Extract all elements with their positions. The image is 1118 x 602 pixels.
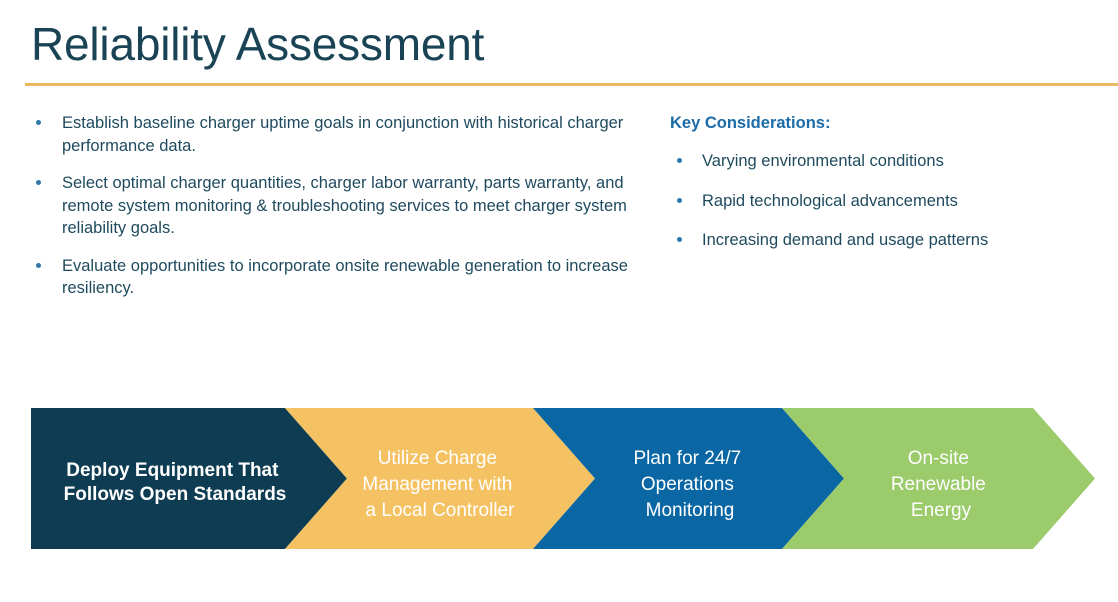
bullet-dot-icon xyxy=(36,120,41,125)
slide-canvas: Reliability Assessment Establish baselin… xyxy=(0,0,1118,602)
list-item: Varying environmental conditions xyxy=(670,150,1090,173)
chevron-label-line: a Local Controller xyxy=(366,500,516,521)
bullet-dot-icon xyxy=(36,263,41,268)
chevron-label-line: Operations xyxy=(641,474,734,495)
chevron-label: Plan for 24/7 Operations Monitoring xyxy=(633,448,746,521)
bullet-dot-icon xyxy=(36,180,41,185)
process-step-deploy-equipment[interactable]: Deploy Equipment That Follows Open Stand… xyxy=(31,408,347,549)
left-content-column: Establish baseline charger uptime goals … xyxy=(31,112,635,300)
chevron-label-line: Management with xyxy=(362,474,512,495)
chevron-label-line: Energy xyxy=(911,500,972,521)
chevron-label-line: Utilize Charge xyxy=(378,448,497,469)
bullet-text: Varying environmental conditions xyxy=(702,152,944,170)
right-content-column: Key Considerations: Varying environmenta… xyxy=(670,112,1090,269)
chevron-label-line: Monitoring xyxy=(646,500,735,521)
list-item: Establish baseline charger uptime goals … xyxy=(31,112,635,157)
list-item: Select optimal charger quantities, charg… xyxy=(31,172,635,240)
chevron-label: Utilize Charge Management with a Local C… xyxy=(362,448,517,521)
list-item: Rapid technological advancements xyxy=(670,190,1090,213)
bullet-dot-icon xyxy=(677,237,682,242)
chevron-label-line: Plan for 24/7 xyxy=(633,448,741,469)
chevron-label-line: On-site xyxy=(908,448,969,469)
bullet-dot-icon xyxy=(677,198,682,203)
chevron-label-line: Follows Open Standards xyxy=(64,484,287,505)
list-item: Increasing demand and usage patterns xyxy=(670,229,1090,252)
key-considerations-list: Varying environmental conditions Rapid t… xyxy=(670,150,1090,252)
list-item: Evaluate opportunities to incorporate on… xyxy=(31,255,635,300)
bullet-text: Increasing demand and usage patterns xyxy=(702,231,988,249)
chevron-label-line: Renewable xyxy=(891,474,986,495)
key-considerations-heading: Key Considerations: xyxy=(670,112,1090,134)
bullet-dot-icon xyxy=(677,158,682,163)
process-chevron-diagram: Deploy Equipment That Follows Open Stand… xyxy=(0,408,1118,549)
bullet-text: Rapid technological advancements xyxy=(702,192,958,210)
chevron-label-line: Deploy Equipment That xyxy=(66,460,279,481)
title-divider-rule xyxy=(25,83,1118,86)
primary-bullet-list: Establish baseline charger uptime goals … xyxy=(31,112,635,300)
bullet-text: Establish baseline charger uptime goals … xyxy=(62,114,623,155)
page-title: Reliability Assessment xyxy=(31,16,484,72)
bullet-text: Evaluate opportunities to incorporate on… xyxy=(62,257,628,298)
bullet-text: Select optimal charger quantities, charg… xyxy=(62,174,627,237)
